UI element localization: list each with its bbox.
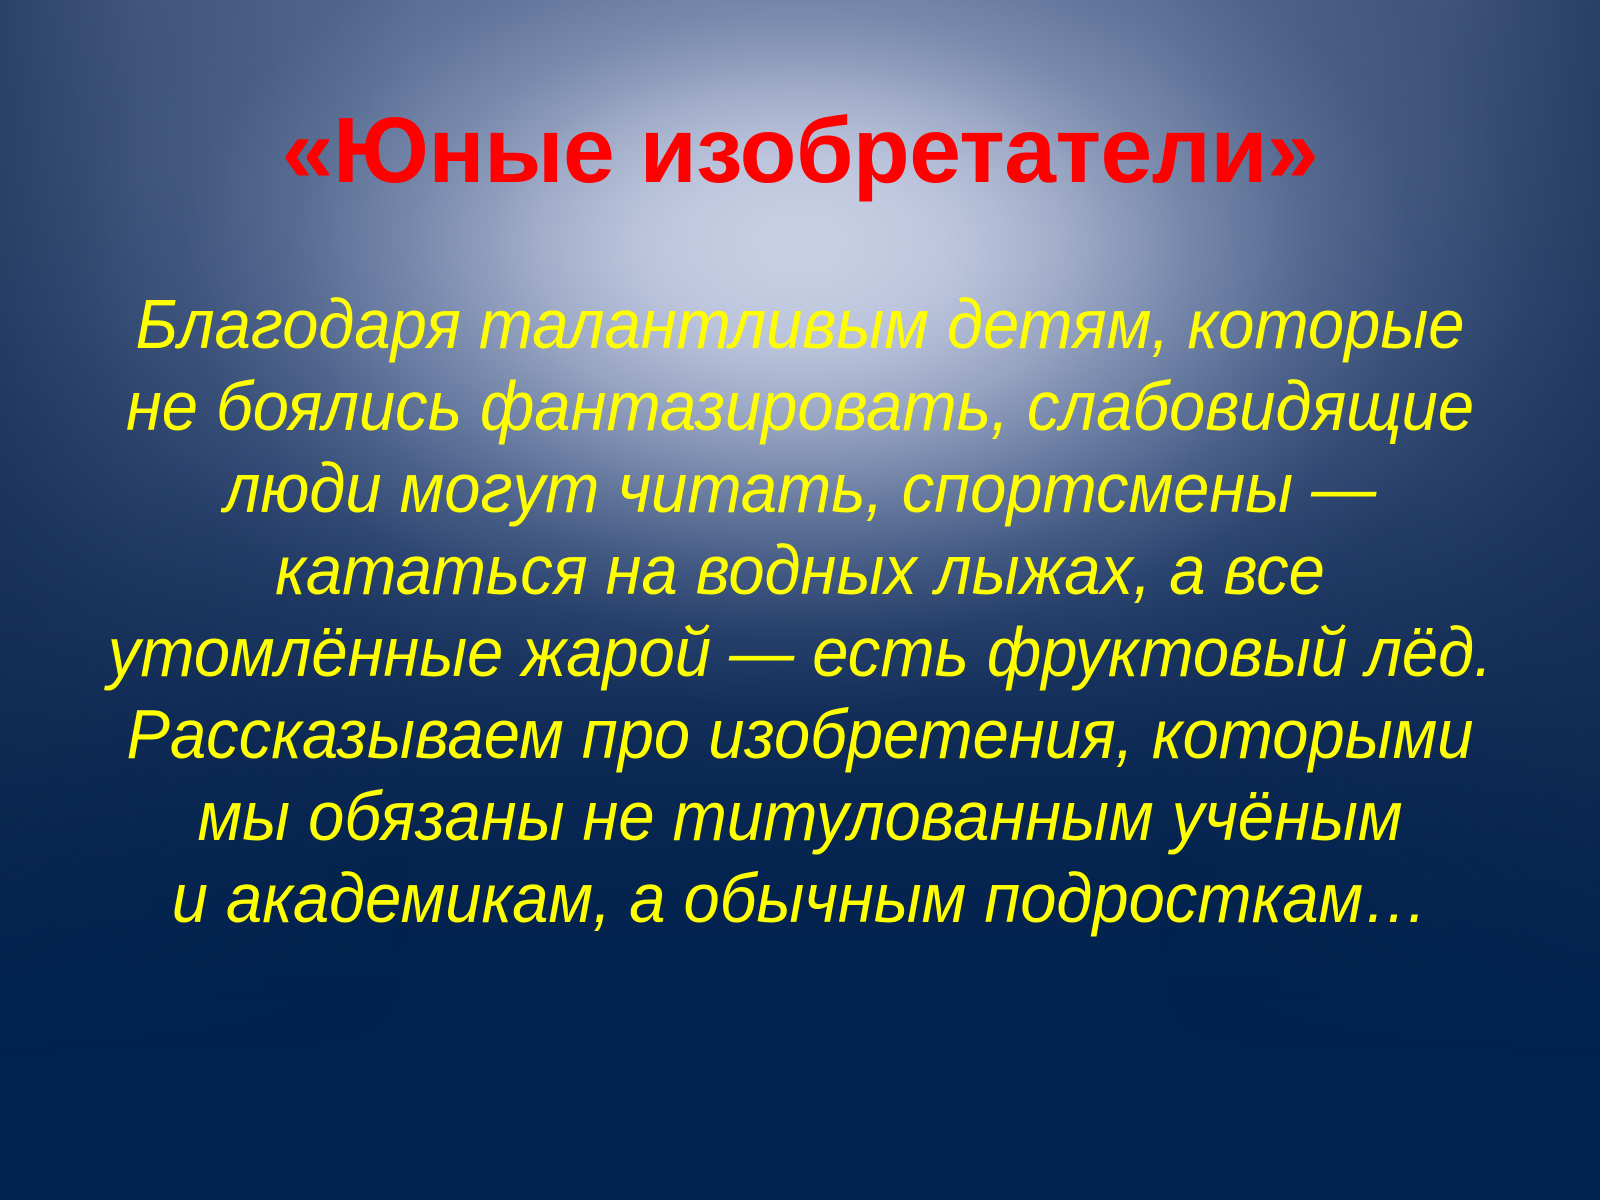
body-line: мы обязаны не титулованным учёным (56, 775, 1544, 857)
body-line: люди могут читать, спортсмены — (56, 447, 1544, 529)
body-line: утомлённые жарой — есть фруктовый лёд. (56, 611, 1544, 693)
body-line: Благодаря талантливым детям, которые (56, 283, 1544, 365)
slide-title: «Юные изобретатели» (0, 104, 1600, 197)
body-line: кататься на водных лыжах, а все (56, 529, 1544, 611)
slide-body-text: Благодаря талантливым детям, которые не … (56, 283, 1544, 939)
slide-content: «Юные изобретатели» Благодаря талантливы… (0, 0, 1600, 1200)
body-line: не боялись фантазировать, слабовидящие (56, 365, 1544, 447)
body-line: и академикам, а обычным подросткам… (56, 857, 1544, 939)
presentation-slide: «Юные изобретатели» Благодаря талантливы… (0, 0, 1600, 1200)
body-line: Рассказываем про изобретения, которыми (56, 693, 1544, 775)
